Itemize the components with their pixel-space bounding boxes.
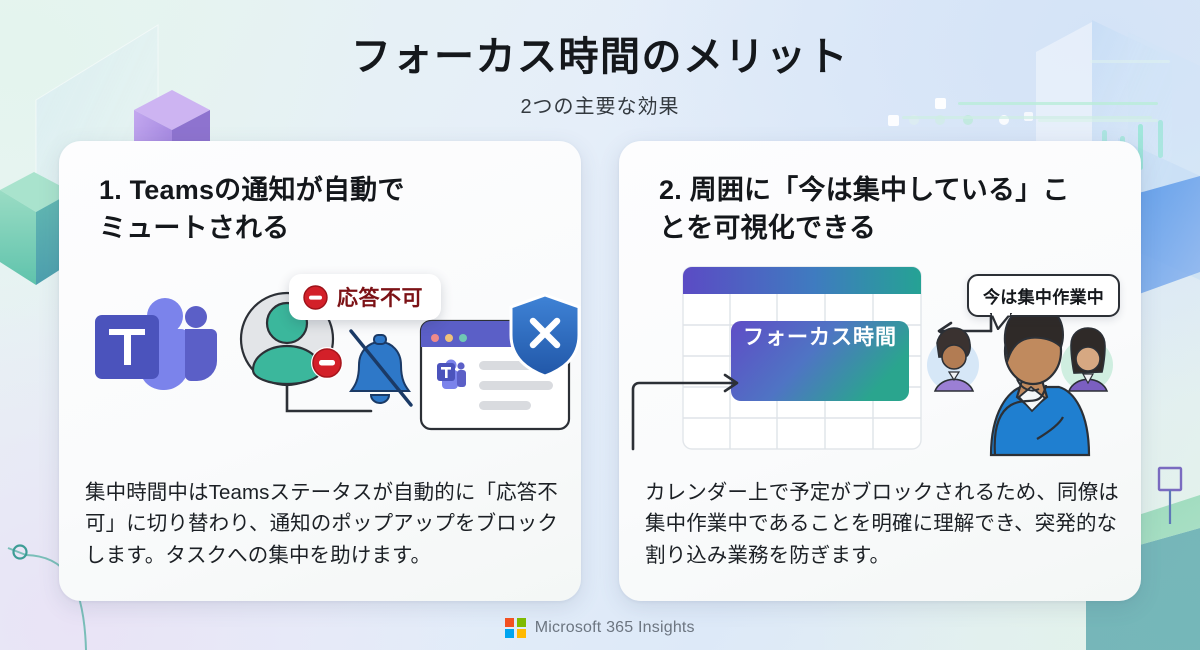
speech-bubble-label: 今は集中作業中 [983,288,1104,307]
microsoft-logo-icon [505,618,526,639]
logo-square-yellow [517,629,526,638]
teams-logo-icon [95,298,217,390]
card-2-body: カレンダー上で予定がブロックされるため、同僚は集中作業中であることを明確に理解で… [645,477,1119,571]
benefit-card-1[interactable]: 1. Teamsの通知が自動で ミュートされる [59,141,581,601]
footer-brand: Microsoft 365 Insights [535,619,695,637]
speech-bubble-tail [989,313,1013,330]
card-1-body: 集中時間中はTeamsステータスが自動的に「応答不可」に切り替わり、通知のポップ… [85,477,559,571]
dnd-badge-icon [311,347,343,379]
status-badge-label: 応答不可 [337,282,423,312]
dnd-icon [303,285,328,310]
page-title: フォーカス時間のメリット [0,24,1200,82]
logo-square-green [517,618,526,627]
muted-bell-icon [351,331,411,405]
coworker-avatar-icon [927,328,979,391]
slide-header: フォーカス時間のメリット 2つの主要な効果 [0,0,1200,119]
logo-square-red [505,618,514,627]
logo-square-blue [505,629,514,638]
card-1-heading: 1. Teamsの通知が自動で ミュートされる [99,171,555,248]
page-subtitle: 2つの主要な効果 [0,90,1200,119]
benefit-card-2[interactable]: 2. 周囲に「今は集中している」こ とを可視化できる [619,141,1141,601]
coworker-avatar-icon [1061,328,1113,391]
card-2-heading: 2. 周囲に「今は集中している」こ とを可視化できる [659,171,1115,248]
status-badge: 応答不可 [289,274,441,320]
focus-block-label: フォーカス時間 [731,321,909,351]
footer: Microsoft 365 Insights [0,618,1200,639]
speech-bubble-icon: 今は集中作業中 [967,274,1120,317]
